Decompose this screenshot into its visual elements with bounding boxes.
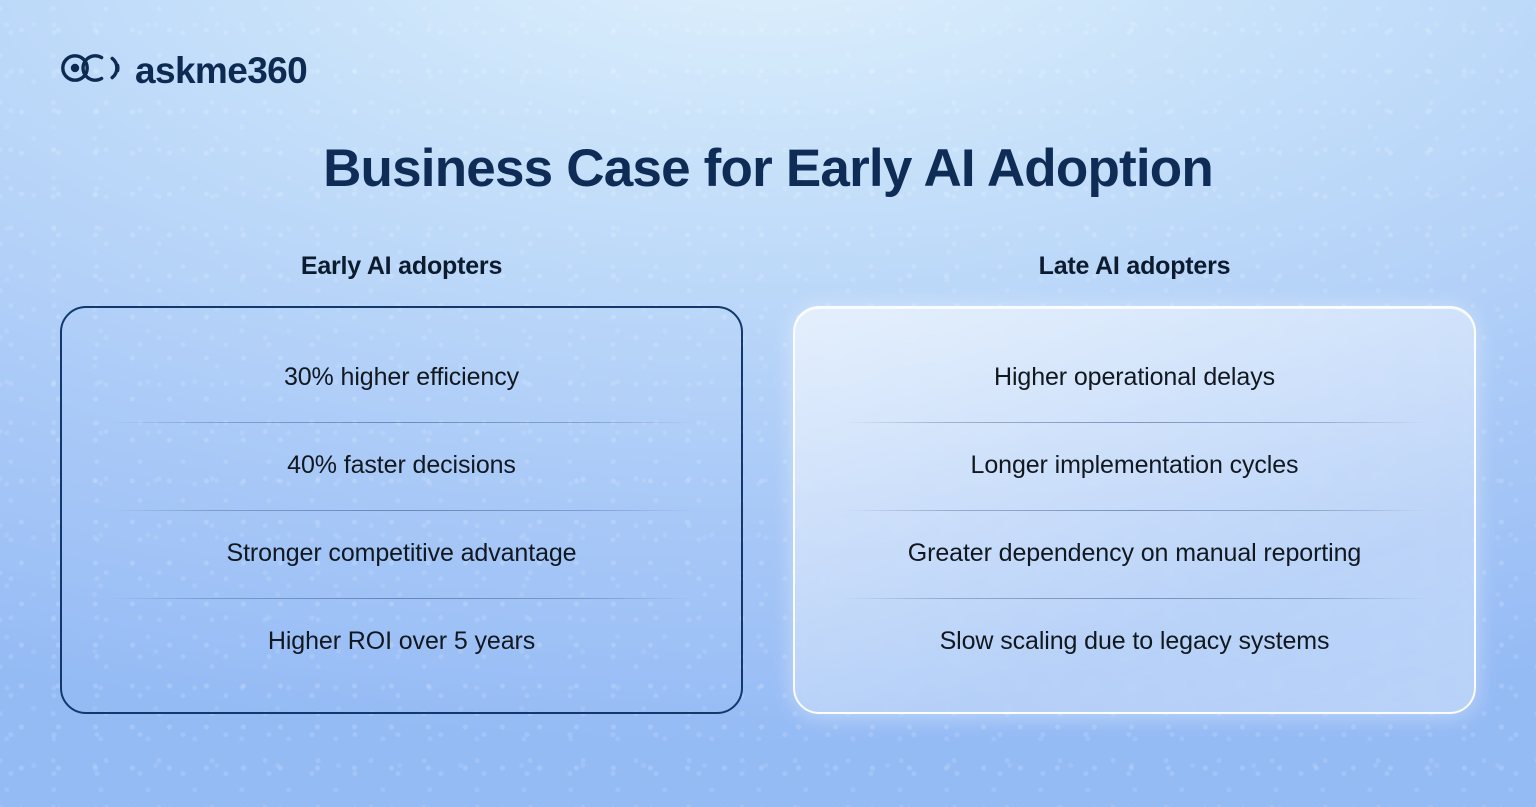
brand-logo: askme360 (60, 52, 307, 89)
card-late-adopters: Higher operational delays Longer impleme… (793, 306, 1476, 714)
list-item: Slow scaling due to legacy systems (829, 598, 1440, 686)
list-item: Greater dependency on manual reporting (829, 510, 1440, 598)
list-item: 40% faster decisions (96, 422, 707, 510)
card-early-adopters: 30% higher efficiency 40% faster decisio… (60, 306, 743, 714)
column-early-adopters: Early AI adopters 30% higher efficiency … (60, 252, 743, 714)
page-title: Business Case for Early AI Adoption (0, 140, 1536, 197)
brand-wordmark: askme360 (135, 52, 307, 89)
column-heading-late: Late AI adopters (793, 252, 1476, 281)
askme360-mark-icon (60, 53, 122, 88)
column-late-adopters: Late AI adopters Higher operational dela… (793, 252, 1476, 714)
list-item: Stronger competitive advantage (96, 510, 707, 598)
list-item: Higher operational delays (829, 334, 1440, 422)
list-item: Higher ROI over 5 years (96, 598, 707, 686)
list-item: 30% higher efficiency (96, 334, 707, 422)
slide-canvas: askme360 Business Case for Early AI Adop… (0, 0, 1536, 807)
comparison-columns: Early AI adopters 30% higher efficiency … (60, 252, 1476, 714)
list-item: Longer implementation cycles (829, 422, 1440, 510)
column-heading-early: Early AI adopters (60, 252, 743, 281)
